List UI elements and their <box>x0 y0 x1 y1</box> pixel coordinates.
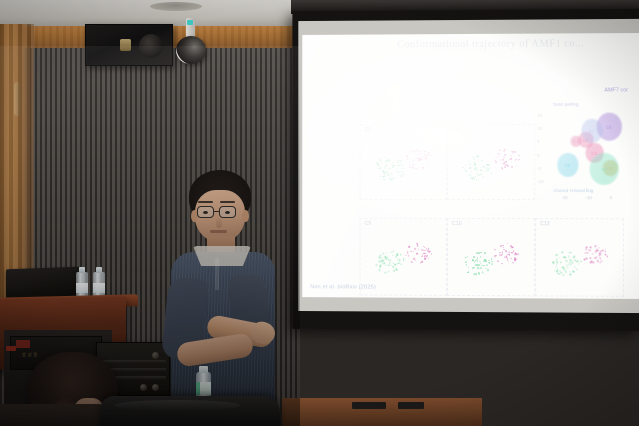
scatter-point <box>390 264 391 266</box>
scatter-point <box>392 254 393 256</box>
screen-mat: Conformational trajectory of AMF1 co... … <box>298 19 639 313</box>
scatter-point <box>389 168 390 169</box>
scatter-point <box>491 258 493 260</box>
scatter-point <box>390 173 391 174</box>
scatter-point <box>556 264 558 266</box>
scatter-point <box>553 262 555 264</box>
scatter-point <box>384 262 385 264</box>
scatter-point <box>384 167 385 168</box>
scatter-point <box>400 254 401 256</box>
scatter-point <box>505 250 507 252</box>
scatter-point <box>380 159 381 160</box>
scatter-point <box>418 249 419 251</box>
scatter-point <box>596 249 598 251</box>
scatter-point <box>576 269 578 271</box>
scatter-point <box>476 252 478 254</box>
scatter-point <box>512 153 514 155</box>
scatter-point <box>480 263 482 265</box>
scatter-point <box>580 261 582 263</box>
scatter-point <box>494 249 496 251</box>
scatter-point <box>416 253 417 255</box>
scatter-point <box>559 257 561 259</box>
scatter-point <box>382 254 383 256</box>
scatter-point <box>504 154 506 156</box>
scatter-point <box>514 259 516 261</box>
scatter-point <box>386 252 387 254</box>
scatter-point <box>389 262 390 264</box>
scatter-point <box>590 247 592 249</box>
scatter-panel-label: C10 <box>452 221 462 227</box>
scatter-panel: C10 <box>447 218 535 296</box>
scatter-point <box>481 160 483 162</box>
scatter-point <box>477 264 479 266</box>
scatter-point <box>379 270 380 272</box>
scatter-point <box>573 271 575 273</box>
scatter-point <box>383 252 384 254</box>
scatter-point <box>422 158 423 159</box>
scatter-point <box>384 175 385 176</box>
scatter-point <box>421 256 422 258</box>
scatter-point <box>424 258 425 260</box>
scatter-point <box>431 253 432 255</box>
scatter-point <box>511 166 513 168</box>
scatter-point <box>382 260 383 262</box>
scatter-point <box>484 171 486 173</box>
scatter-point <box>599 255 601 257</box>
scatter-point <box>511 151 513 153</box>
scatter-point <box>407 158 408 159</box>
scatter-point <box>504 149 506 151</box>
scatter-point <box>415 259 416 261</box>
scatter-point <box>400 175 401 176</box>
scatter-point <box>479 274 481 276</box>
scatter-point <box>463 168 464 170</box>
scatter-point <box>517 254 519 256</box>
scatter-panel: C1 <box>360 124 447 200</box>
scatter-point <box>466 170 467 172</box>
scatter-point <box>585 249 587 251</box>
scatter-point <box>466 264 467 266</box>
scatter-point <box>473 256 475 258</box>
scatter-point <box>380 176 381 177</box>
umap-title: AMF7 cor <box>604 87 628 93</box>
scatter-point <box>565 271 567 273</box>
scatter-point <box>571 260 573 262</box>
scatter-point <box>563 267 565 269</box>
scatter-point <box>420 160 421 161</box>
scatter-point <box>518 155 520 157</box>
scatter-point <box>586 247 588 249</box>
scatter-point <box>465 257 466 259</box>
desk-object <box>352 402 386 409</box>
scatter-point <box>486 264 488 266</box>
scatter-point <box>516 165 518 167</box>
scatter-point <box>422 261 423 263</box>
scatter-point <box>483 265 485 267</box>
scatter-point <box>573 257 575 259</box>
scatter-point <box>393 177 394 178</box>
scatter-point <box>507 165 509 167</box>
scatter-point <box>408 246 409 248</box>
scatter-point <box>427 162 428 163</box>
umap-y-tick: 15 <box>537 113 542 118</box>
scatter-point <box>557 269 559 271</box>
scatter-point <box>389 259 390 261</box>
scatter-point <box>393 266 394 268</box>
scatter-point <box>409 151 410 152</box>
scatter-panel-label: C1 <box>365 127 372 133</box>
scatter-point <box>559 273 561 275</box>
scatter-point <box>426 255 427 257</box>
scatter-point <box>423 253 424 255</box>
scatter-point <box>505 161 507 163</box>
scatter-point <box>510 258 512 260</box>
scatter-point <box>401 168 402 169</box>
scatter-point <box>595 251 597 253</box>
scatter-point <box>468 267 469 269</box>
scatter-point <box>417 154 418 155</box>
scatter-point <box>380 265 381 267</box>
scatter-panel-label: C9 <box>365 221 372 227</box>
ceiling-vent <box>150 2 202 11</box>
scatter-point <box>467 256 468 258</box>
scatter-point <box>413 167 414 168</box>
umap-y-tick: 10 <box>537 126 542 131</box>
scatter-point <box>384 179 385 180</box>
scatter-point <box>487 269 489 271</box>
scatter-point <box>426 155 427 156</box>
scatter-point <box>478 175 480 177</box>
scatter-point <box>424 250 425 252</box>
scatter-point <box>560 262 562 264</box>
scatter-point <box>578 263 580 265</box>
scatter-point <box>511 162 513 164</box>
desk-object <box>398 402 424 409</box>
scatter-point <box>518 158 520 160</box>
scatter-point <box>472 260 473 262</box>
scatter-point <box>427 250 428 252</box>
umap-y-tick: -10 <box>537 179 543 184</box>
scatter-point <box>483 176 485 178</box>
scatter-point <box>499 252 501 254</box>
scatter-point <box>554 270 556 272</box>
scatter-point <box>515 253 517 255</box>
camera-led-icon <box>187 20 193 25</box>
umap-canvas: 151050-5-10-20-100C1C2C3C4C5C6C7C8 <box>537 97 630 202</box>
scatter-point <box>601 260 603 262</box>
scatter-point <box>379 168 380 169</box>
scatter-point <box>577 261 579 263</box>
scatter-point <box>555 266 557 268</box>
scatter-point <box>474 163 476 165</box>
scatter-point <box>514 253 516 255</box>
scatter-point <box>414 248 415 250</box>
scatter-point <box>491 172 493 174</box>
scatter-panel: C12 <box>535 218 624 297</box>
scatter-point <box>501 254 503 256</box>
scatter-point <box>570 263 572 265</box>
scatter-point <box>394 270 395 272</box>
scatter-point <box>425 158 426 159</box>
scatter-point <box>409 161 410 162</box>
slide-title: Conformational trajectory of AMF1 co... <box>336 38 639 51</box>
scatter-point <box>504 166 506 168</box>
scatter-point <box>410 251 411 253</box>
scatter-point <box>514 151 516 153</box>
scatter-point <box>478 179 480 181</box>
scatter-point <box>422 156 423 157</box>
scatter-point <box>394 165 395 166</box>
slide-surface: Conformational trajectory of AMF1 co... … <box>302 33 639 299</box>
scatter-point <box>477 261 479 263</box>
scatter-point <box>503 249 505 251</box>
scatter-point <box>499 254 501 256</box>
scatter-point <box>503 150 505 152</box>
umap-y-tick: 0 <box>537 152 539 157</box>
umap-y-tick: 5 <box>537 139 539 144</box>
scatter-point <box>517 258 519 260</box>
scatter-point <box>481 170 483 172</box>
scatter-point <box>561 272 563 274</box>
scatter-point <box>565 256 567 258</box>
scatter-point <box>495 161 497 163</box>
scatter-point <box>491 261 493 263</box>
scatter-point <box>479 268 481 270</box>
scatter-point <box>400 264 401 266</box>
scatter-point <box>396 256 397 258</box>
scatter-point <box>511 156 513 158</box>
scatter-point <box>512 262 514 264</box>
scatter-point <box>399 260 400 262</box>
scatter-point <box>483 273 485 275</box>
scatter-point <box>467 272 468 274</box>
scatter-point <box>515 158 517 160</box>
scatter-point <box>480 267 482 269</box>
scatter-point <box>476 170 478 172</box>
scatter-point <box>403 259 404 261</box>
scatter-point <box>388 174 389 175</box>
scatter-point <box>570 274 572 276</box>
scatter-point <box>388 160 389 161</box>
scatter-point <box>379 261 380 263</box>
umap-x-tick: 0 <box>610 195 612 200</box>
scatter-point <box>511 252 513 254</box>
scatter-panel-label: C2 <box>452 127 459 133</box>
scatter-point <box>567 267 569 269</box>
scatter-point <box>568 263 570 265</box>
scatter-point <box>570 252 572 254</box>
scatter-point <box>598 247 600 249</box>
scatter-point <box>499 156 501 158</box>
scatter-point <box>473 158 475 160</box>
umap-cluster-label: C8 <box>601 167 606 172</box>
scatter-point <box>568 256 570 258</box>
scatter-point <box>599 258 601 260</box>
scatter-point <box>480 256 482 258</box>
scatter-point <box>596 256 598 258</box>
scatter-point <box>407 252 408 254</box>
scatter-point <box>499 150 501 152</box>
scatter-point <box>420 167 421 168</box>
scatter-point <box>413 250 414 252</box>
scatter-point <box>587 252 589 254</box>
scatter-point <box>428 257 429 259</box>
scatter-point <box>589 250 591 252</box>
scatter-point <box>380 255 381 257</box>
scatter-point <box>568 252 570 254</box>
scatter-point <box>385 272 386 274</box>
scatter-point <box>592 253 594 255</box>
scatter-panel-grid: C1 C2 C9 C10 C12 <box>320 71 632 276</box>
umap-cluster-label: C5 <box>565 163 570 168</box>
scatter-point <box>562 251 564 253</box>
scatter-point <box>394 264 395 266</box>
scatter-point <box>602 250 604 252</box>
umap-scatter-plot: AMF7 cor base pairing Shared H-bond fing… <box>537 97 630 202</box>
scatter-panel-label: C12 <box>540 221 550 227</box>
scatter-point <box>491 264 493 266</box>
scatter-point <box>420 153 421 154</box>
scatter-point <box>465 164 466 166</box>
umap-x-tick: -20 <box>561 195 567 200</box>
scatter-point <box>376 265 377 267</box>
acoustic-wall-panel <box>0 46 300 426</box>
scatter-point <box>589 258 591 260</box>
scatter-point <box>415 151 416 152</box>
scatter-point <box>480 174 482 176</box>
scatter-point <box>597 250 599 252</box>
umap-cluster-label: C6 <box>606 125 611 130</box>
scatter-point <box>402 173 403 174</box>
scatter-point <box>594 246 596 248</box>
scatter-point <box>469 163 470 165</box>
scatter-point <box>424 151 425 152</box>
scatter-point <box>384 257 385 259</box>
scatter-point <box>475 167 477 169</box>
scatter-point <box>478 157 480 159</box>
scatter-point <box>470 171 471 173</box>
scatter-point <box>406 155 407 156</box>
scatter-point <box>502 245 504 247</box>
scatter-point <box>412 164 413 165</box>
scatter-point <box>605 254 607 256</box>
scatter-point <box>565 272 567 274</box>
scatter-point <box>423 167 424 168</box>
scatter-point <box>485 260 487 262</box>
scatter-point <box>416 149 417 150</box>
umap-y-tick: -5 <box>537 166 541 171</box>
seminar-room-photo: Conformational trajectory of AMF1 co... … <box>0 0 639 426</box>
umap-x-tick: -10 <box>586 195 592 200</box>
scatter-point <box>477 159 479 161</box>
scatter-point <box>417 169 418 170</box>
scatter-point <box>386 258 387 260</box>
scatter-point <box>510 155 512 157</box>
scatter-point <box>396 254 397 256</box>
scatter-point <box>480 252 482 254</box>
scatter-point <box>409 166 410 167</box>
scatter-panel: C2 <box>447 124 535 200</box>
scatter-point <box>387 256 388 258</box>
scatter-point <box>472 156 473 158</box>
scatter-point <box>495 255 497 257</box>
scatter-point <box>556 261 558 263</box>
scatter-point <box>487 169 489 171</box>
scatter-point <box>501 263 503 265</box>
scatter-point <box>590 262 592 264</box>
scatter-point <box>399 165 400 166</box>
scatter-point <box>385 264 386 266</box>
scatter-point <box>606 256 608 258</box>
scatter-point <box>430 155 431 156</box>
scatter-point <box>593 262 595 264</box>
scatter-point <box>497 156 499 158</box>
scatter-point <box>477 257 479 259</box>
scatter-point <box>404 168 405 169</box>
scatter-point <box>511 247 513 249</box>
scatter-point <box>605 251 607 253</box>
scatter-point <box>388 271 389 273</box>
scatter-point <box>497 261 499 263</box>
scatter-point <box>605 248 607 250</box>
scatter-point <box>402 165 403 166</box>
scatter-point <box>489 164 491 166</box>
scatter-point <box>409 164 410 165</box>
scatter-point <box>510 158 512 160</box>
scatter-point <box>475 176 477 178</box>
scatter-point <box>465 261 466 263</box>
scatter-point <box>486 164 488 166</box>
scatter-point <box>393 262 394 264</box>
scatter-point <box>501 162 503 164</box>
scatter-point <box>586 258 588 260</box>
scatter-point <box>384 157 385 158</box>
scatter-point <box>469 167 470 169</box>
scatter-point <box>406 254 407 256</box>
scatter-point <box>557 254 559 256</box>
umap-cluster-label: C7 <box>589 129 594 134</box>
scatter-point <box>387 171 388 172</box>
scatter-point <box>392 250 393 252</box>
scatter-point <box>572 262 574 264</box>
scatter-point <box>599 262 601 264</box>
projection-screen-frame: Conformational trajectory of AMF1 co... … <box>292 9 639 331</box>
scatter-point <box>475 274 477 276</box>
scatter-point <box>478 165 480 167</box>
scatter-point <box>468 161 469 163</box>
scatter-point <box>501 167 503 169</box>
scatter-point <box>397 171 398 172</box>
scatter-point <box>498 153 500 155</box>
scatter-point <box>408 255 409 257</box>
scatter-point <box>507 243 509 245</box>
scatter-point <box>424 155 425 156</box>
scatter-point <box>502 159 504 161</box>
scatter-point <box>398 162 399 163</box>
slide-citation: Nan et al. bioRxiv (2025) <box>310 284 376 290</box>
scatter-point <box>378 164 379 165</box>
scatter-point <box>562 274 564 276</box>
scatter-point <box>402 171 403 172</box>
scatter-point <box>418 151 419 152</box>
scatter-point <box>473 267 475 269</box>
scatter-point <box>476 259 478 261</box>
scatter-point <box>430 251 431 253</box>
scatter-point <box>600 253 602 255</box>
scatter-point <box>392 162 393 163</box>
scatter-point <box>574 266 576 268</box>
scatter-point <box>472 177 473 179</box>
